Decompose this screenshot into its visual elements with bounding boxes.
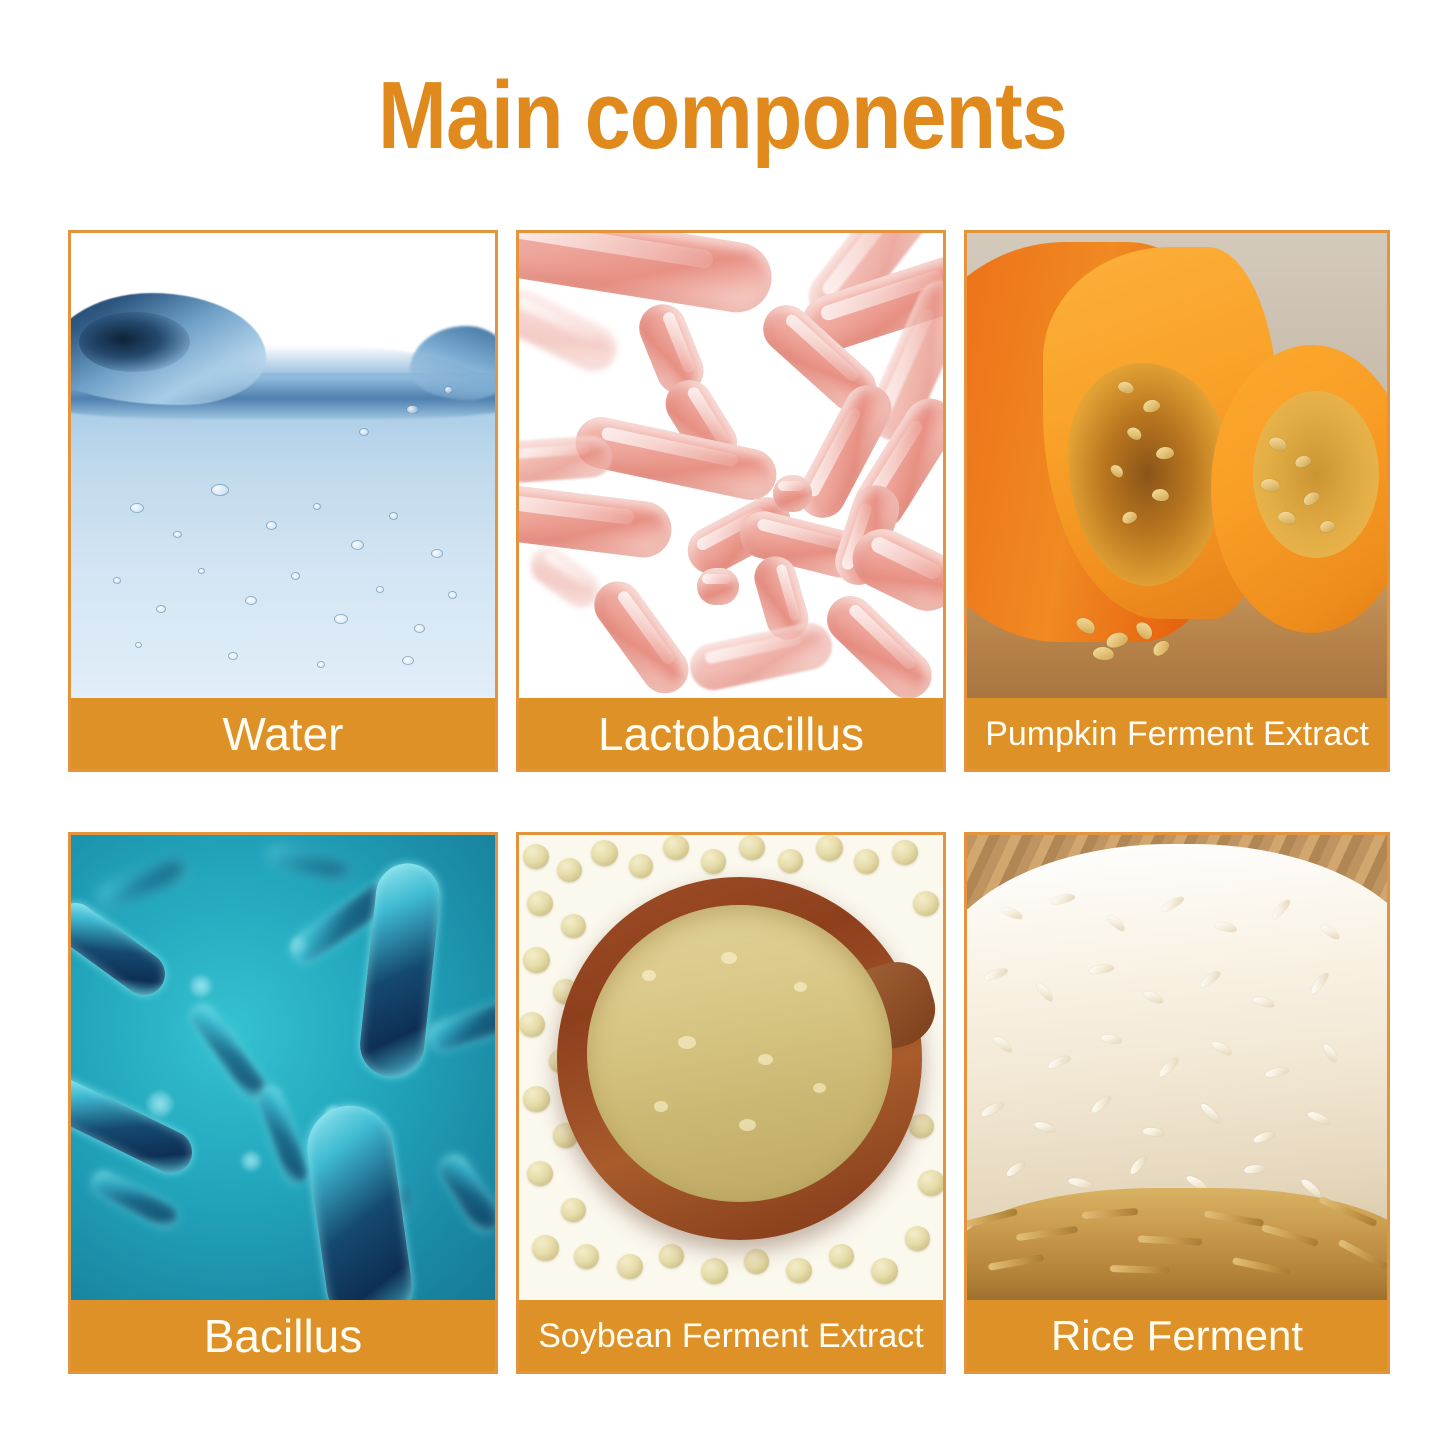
main-components-infographic: Main components <box>0 0 1445 1445</box>
soybean-icon <box>909 1114 934 1138</box>
bacteria-rod-icon <box>265 844 352 883</box>
powder-speck-icon <box>813 1083 826 1093</box>
soybean-icon <box>854 849 879 874</box>
rice-husk-icon <box>1204 1210 1264 1226</box>
bacteria-rod-icon <box>71 1071 199 1179</box>
component-label-soybean: Soybean Ferment Extract <box>519 1300 943 1371</box>
powder-speck-icon <box>642 970 656 981</box>
component-card-lactobacillus[interactable]: Lactobacillus <box>516 230 946 772</box>
bubble-icon <box>130 503 144 513</box>
bacteria-rod-icon <box>697 568 739 605</box>
powder-speck-icon <box>739 1119 756 1131</box>
soybean-icon <box>561 1198 586 1222</box>
powder-speck-icon <box>678 1036 696 1049</box>
bacteria-rod-icon <box>186 1000 270 1103</box>
bacteria-rod-icon <box>95 856 190 912</box>
water-crest-dark-core <box>79 312 189 372</box>
bacteria-rod-icon <box>71 895 173 1004</box>
bubble-icon <box>156 605 166 613</box>
soybean-icon <box>913 891 939 916</box>
bubble-icon <box>198 568 205 574</box>
soybean-icon <box>905 1226 930 1251</box>
soybean-icon <box>629 854 653 878</box>
component-label-lactobacillus: Lactobacillus <box>519 698 943 769</box>
water-body-area <box>71 373 495 699</box>
soybean-icon <box>829 1244 854 1268</box>
bacteria-rod-icon <box>88 1168 181 1232</box>
soybean-icon <box>871 1258 898 1284</box>
pumpkin-half-seed-cavity <box>1253 391 1379 558</box>
soybean-icon <box>591 840 618 866</box>
bubble-icon <box>389 512 398 520</box>
bubble-icon <box>211 484 229 496</box>
powder-speck-icon <box>794 982 807 992</box>
rice-husk-icon <box>1016 1225 1078 1241</box>
page-title: Main components <box>101 62 1344 170</box>
soybean-icon <box>816 835 843 861</box>
component-label-pumpkin: Pumpkin Ferment Extract <box>967 698 1387 769</box>
soybean-icon <box>617 1254 643 1279</box>
bubble-icon <box>228 652 238 660</box>
rice-husk-icon <box>1232 1257 1290 1276</box>
bubble-icon <box>406 405 419 414</box>
bacteria-rod-icon <box>685 618 836 693</box>
background-particle-icon <box>147 1091 173 1117</box>
bubble-icon <box>173 531 182 538</box>
soybean-icon <box>532 1235 559 1261</box>
bacteria-rod-icon <box>586 572 698 698</box>
white-rice-grains-photo <box>967 835 1387 1300</box>
soybean-icon <box>523 947 550 973</box>
bacteria-rod-icon <box>302 1100 417 1300</box>
component-card-rice[interactable]: Rice Ferment <box>964 832 1390 1374</box>
bacillus-bacteria-photo <box>71 835 495 1300</box>
powder-speck-icon <box>758 1054 773 1065</box>
rice-stalks <box>967 1188 1387 1300</box>
component-label-rice: Rice Ferment <box>967 1300 1387 1371</box>
soybean-icon <box>778 849 803 873</box>
powder-speck-icon <box>654 1101 668 1112</box>
soybean-icon <box>744 1249 769 1274</box>
bubble-icon <box>313 503 321 510</box>
bacteria-rod-icon <box>425 998 495 1053</box>
bubble-icon <box>245 596 257 605</box>
soybean-icon <box>663 835 689 860</box>
soybean-powder <box>587 905 892 1203</box>
bacteria-rod-icon <box>519 434 614 483</box>
rice-husk-icon <box>1082 1208 1138 1219</box>
soybean-icon <box>527 1161 553 1186</box>
powder-speck-icon <box>721 952 737 964</box>
bubble-icon <box>351 540 364 550</box>
bacteria-rod-icon <box>773 475 811 512</box>
component-card-pumpkin[interactable]: Pumpkin Ferment Extract <box>964 230 1390 772</box>
water-splash-photo <box>71 233 495 698</box>
bubble-icon <box>317 661 325 668</box>
soybean-icon <box>659 1244 684 1268</box>
component-card-soybean[interactable]: Soybean Ferment Extract <box>516 832 946 1374</box>
rice-husk-icon <box>1261 1224 1319 1247</box>
bacteria-rod-icon <box>255 1083 312 1187</box>
lactobacillus-bacteria-photo <box>519 233 943 698</box>
bubble-icon <box>135 642 142 648</box>
rice-husk-icon <box>1337 1239 1387 1271</box>
component-label-bacillus: Bacillus <box>71 1300 495 1371</box>
soybean-icon <box>519 1012 545 1037</box>
soybean-powder-bowl-photo <box>519 835 943 1300</box>
background-particle-icon <box>190 975 212 997</box>
component-label-water: Water <box>71 698 495 769</box>
bubble-icon <box>402 656 414 665</box>
bubble-icon <box>414 624 425 633</box>
background-particle-icon <box>241 1151 261 1171</box>
component-card-water[interactable]: Water <box>68 230 498 772</box>
rice-husk-icon <box>1138 1235 1202 1245</box>
bacteria-rod-icon <box>435 1150 495 1237</box>
soybean-icon <box>892 840 918 865</box>
component-card-bacillus[interactable]: Bacillus <box>68 832 498 1374</box>
cut-pumpkin-photo <box>967 233 1387 698</box>
rice-husk-icon <box>1110 1265 1170 1274</box>
bacteria-rod-icon <box>519 282 625 380</box>
components-grid: Water <box>68 230 1390 1400</box>
rice-husk-icon <box>988 1254 1044 1271</box>
soybean-icon <box>918 1170 943 1196</box>
